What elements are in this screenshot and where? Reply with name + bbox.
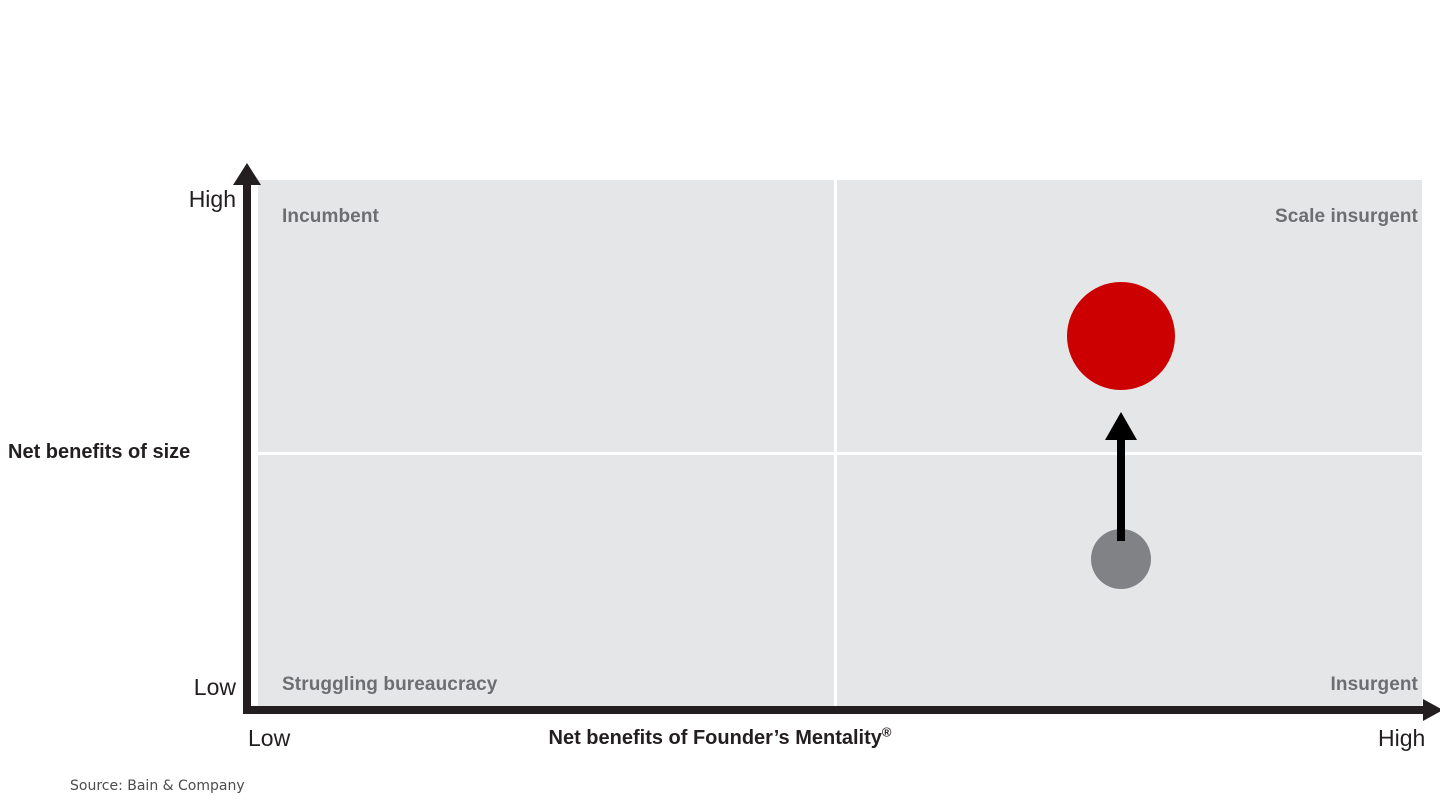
bubble-target-state bbox=[1067, 282, 1175, 390]
x-axis-arrow-icon bbox=[1423, 699, 1440, 721]
x-axis-title: Net benefits of Founder’s Mentality® bbox=[0, 727, 1440, 750]
quadrant-label-incumbent: Incumbent bbox=[282, 206, 379, 228]
y-axis-tick-high: High bbox=[189, 186, 236, 213]
registered-trademark-mark: ® bbox=[882, 724, 892, 739]
x-axis-line bbox=[243, 706, 1427, 714]
quadrant-label-insurgent: Insurgent bbox=[1331, 674, 1418, 696]
quadrant-divider-horizontal bbox=[258, 452, 1422, 455]
movement-arrow-head-icon bbox=[1105, 412, 1137, 440]
quadrant-label-scale-insurgent: Scale insurgent bbox=[1275, 206, 1418, 228]
y-axis-tick-low: Low bbox=[194, 674, 236, 701]
y-axis-arrow-icon bbox=[233, 163, 261, 185]
y-axis-title: Net benefits of size bbox=[8, 441, 190, 464]
x-axis-title-text: Net benefits of Founder’s Mentality bbox=[549, 727, 882, 749]
quadrant-divider-vertical bbox=[834, 180, 837, 710]
source-note: Source: Bain & Company bbox=[70, 778, 245, 794]
y-axis-line bbox=[243, 180, 251, 713]
quadrant-label-struggling-bureaucracy: Struggling bureaucracy bbox=[282, 674, 497, 696]
chart-plot-area: Incumbent Scale insurgent Struggling bur… bbox=[258, 180, 1422, 710]
movement-arrow-shaft bbox=[1117, 437, 1125, 541]
